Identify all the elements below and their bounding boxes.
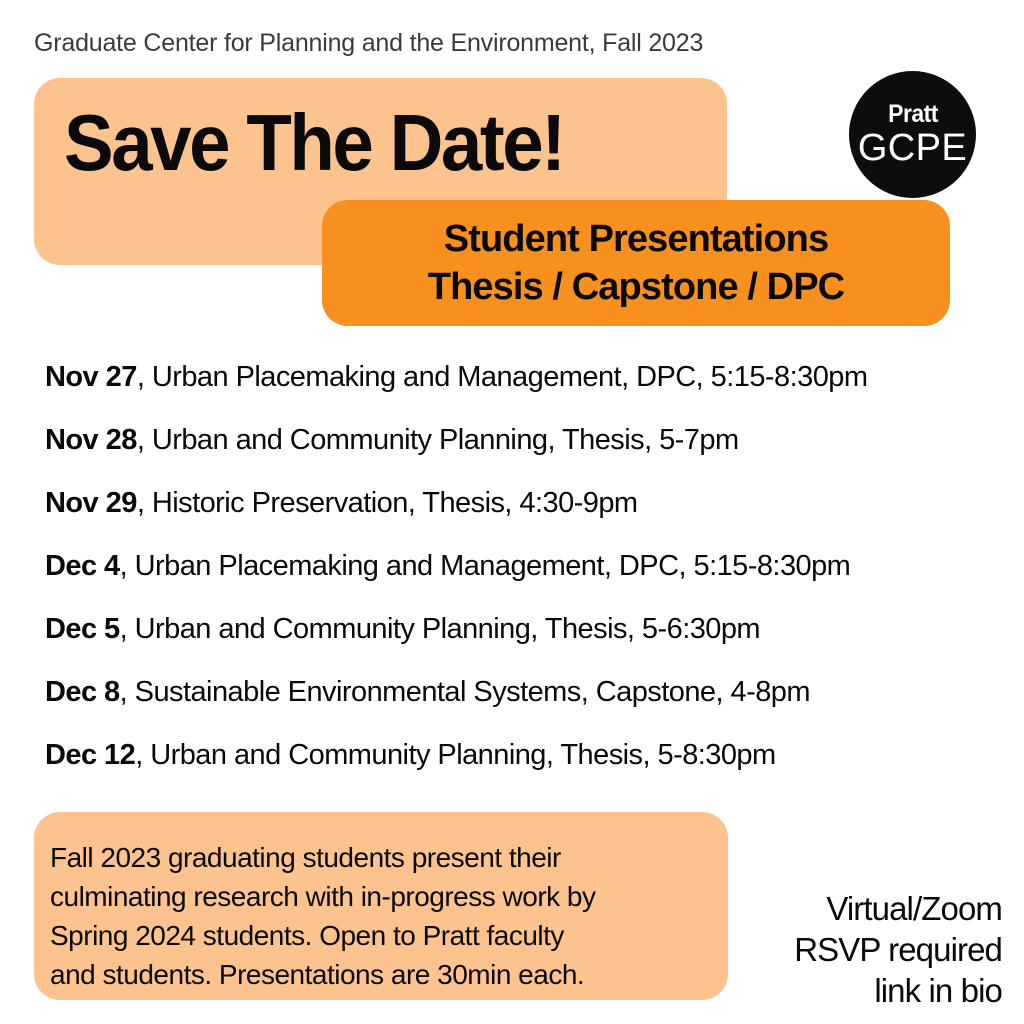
description-line-3: Spring 2024 students. Open to Pratt facu…: [50, 916, 718, 955]
rsvp-line-1: Virtual/Zoom: [794, 888, 1002, 929]
page-title: Save The Date!: [64, 100, 564, 186]
schedule-date: Dec 4: [45, 550, 120, 582]
logo-pratt-text: Pratt: [888, 101, 938, 127]
schedule-details: , Sustainable Environmental Systems, Cap…: [120, 676, 810, 708]
schedule-details: , Urban Placemaking and Management, DPC,…: [120, 550, 851, 582]
list-item: Dec 8, Sustainable Environmental Systems…: [45, 675, 1020, 738]
description-line-4: and students. Presentations are 30min ea…: [50, 955, 718, 994]
rsvp-line-2: RSVP required: [794, 929, 1002, 970]
banner-line-1: Student Presentations: [444, 215, 828, 263]
schedule-date: Nov 27: [45, 361, 137, 393]
presentations-banner: Student Presentations Thesis / Capstone …: [322, 200, 950, 326]
schedule-date: Dec 12: [45, 739, 135, 771]
description-line-1: Fall 2023 graduating students present th…: [50, 838, 718, 877]
list-item: Dec 12, Urban and Community Planning, Th…: [45, 738, 1020, 801]
schedule-date: Dec 8: [45, 676, 120, 708]
schedule-details: , Historic Preservation, Thesis, 4:30-9p…: [137, 487, 638, 519]
list-item: Dec 4, Urban Placemaking and Management,…: [45, 549, 1020, 612]
pratt-gcpe-logo: Pratt GCPE: [849, 71, 976, 198]
list-item: Nov 28, Urban and Community Planning, Th…: [45, 423, 1020, 486]
schedule-details: , Urban and Community Planning, Thesis, …: [137, 424, 739, 456]
schedule-date: Nov 28: [45, 424, 137, 456]
schedule-details: , Urban Placemaking and Management, DPC,…: [137, 361, 868, 393]
page-kicker: Graduate Center for Planning and the Env…: [34, 28, 703, 58]
description-text: Fall 2023 graduating students present th…: [50, 838, 718, 994]
banner-line-2: Thesis / Capstone / DPC: [428, 263, 844, 311]
list-item: Nov 29, Historic Preservation, Thesis, 4…: [45, 486, 1020, 549]
schedule-date: Nov 29: [45, 487, 137, 519]
schedule-date: Dec 5: [45, 613, 120, 645]
description-line-2: culminating research with in-progress wo…: [50, 877, 718, 916]
schedule-list: Nov 27, Urban Placemaking and Management…: [45, 360, 1020, 801]
list-item: Nov 27, Urban Placemaking and Management…: [45, 360, 1020, 423]
rsvp-info: Virtual/Zoom RSVP required link in bio: [794, 888, 1002, 1011]
schedule-details: , Urban and Community Planning, Thesis, …: [120, 613, 760, 645]
list-item: Dec 5, Urban and Community Planning, The…: [45, 612, 1020, 675]
logo-gcpe-text: GCPE: [858, 128, 967, 168]
rsvp-line-3: link in bio: [794, 970, 1002, 1011]
schedule-details: , Urban and Community Planning, Thesis, …: [135, 739, 775, 771]
